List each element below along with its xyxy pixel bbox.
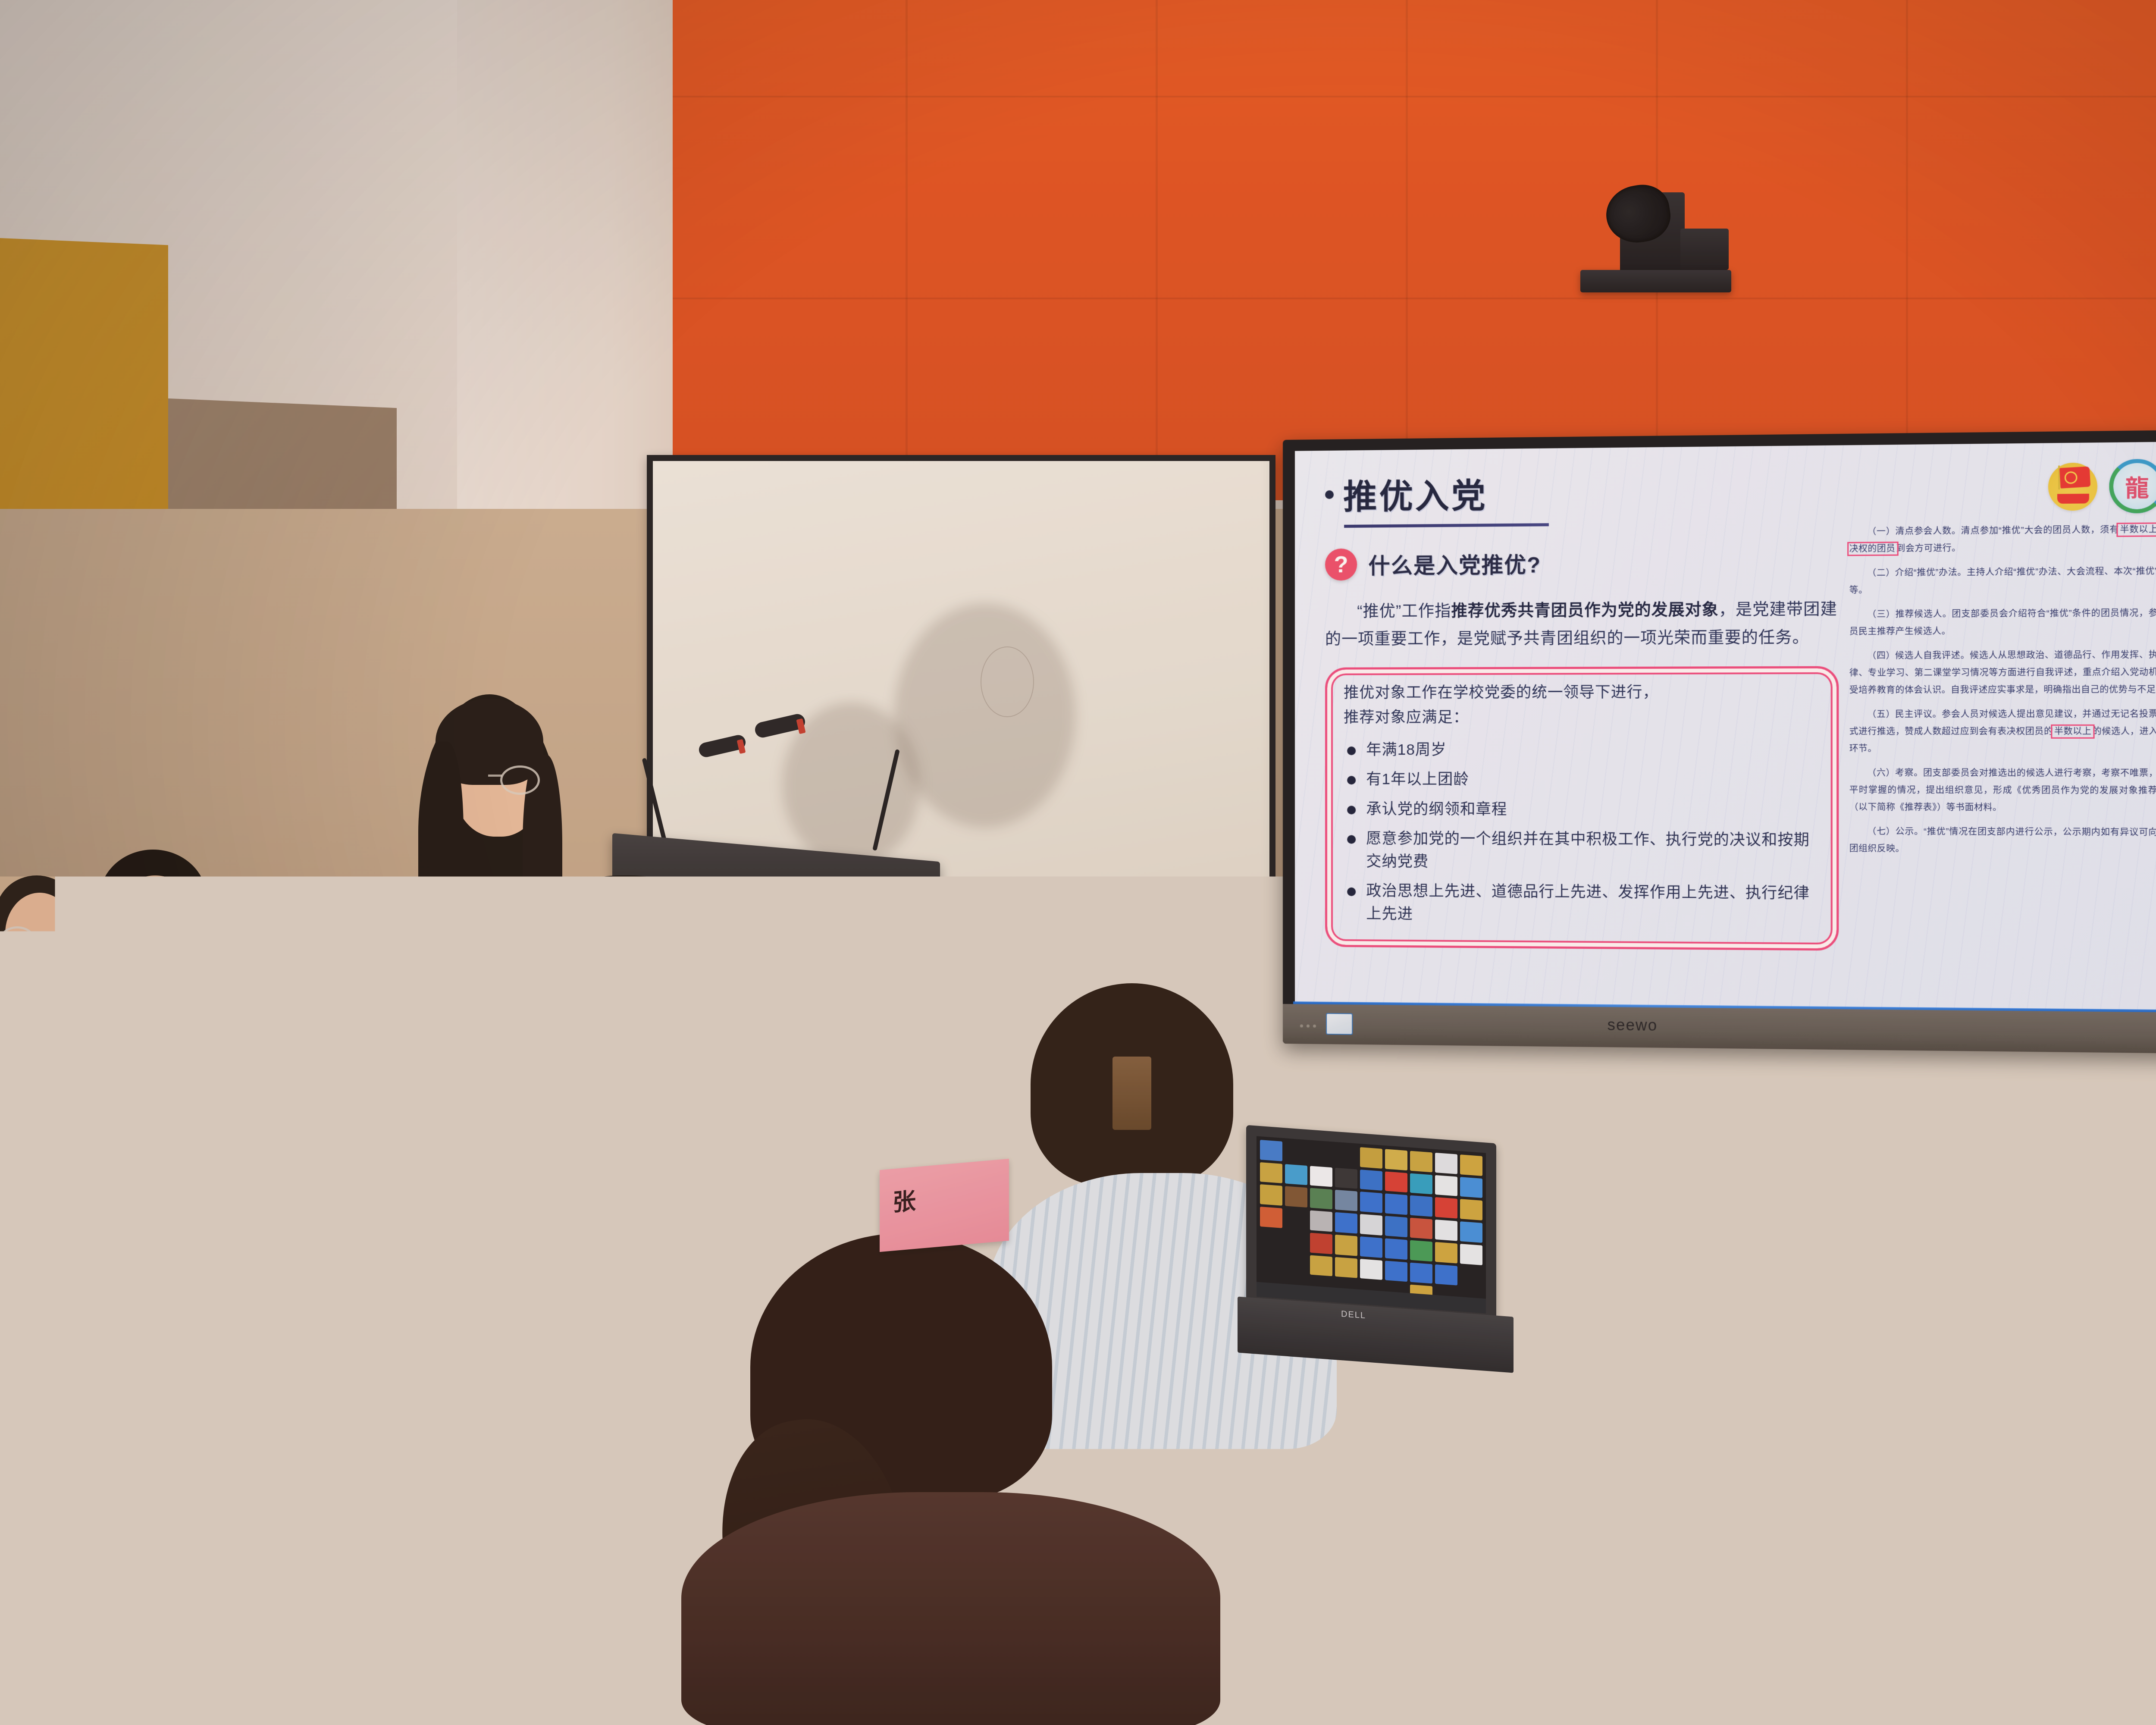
slide-title-row: 推优入党 <box>1325 465 1839 519</box>
list-item: 年满18周岁 <box>1344 738 1822 762</box>
box-lead-line-1: 推优对象工作在学校党委的统一领导下进行， <box>1344 680 1822 706</box>
presenter-glasses-icon <box>500 765 540 795</box>
panel-screen[interactable]: 推优入党 ? 什么是入党推优? “推优”工作指推荐优秀共青团员作为党的发展对象，… <box>1295 442 2156 1011</box>
title-underline <box>1344 523 1549 528</box>
presentation-slide: 推优入党 ? 什么是入党推优? “推优”工作指推荐优秀共青团员作为党的发展对象，… <box>1295 442 2156 1011</box>
procedure-paragraph: （一）清点参会人数。清点参加“推优”大会的团员人数，须有半数以上有表决权的团员到… <box>1849 521 2156 558</box>
presenter-glasses-bridge <box>488 775 502 777</box>
list-item: 有1年以上团龄 <box>1344 768 1822 792</box>
slide-left-column: 推优入党 ? 什么是入党推优? “推优”工作指推荐优秀共青团员作为党的发展对象，… <box>1325 465 1839 994</box>
classroom-photo-scene: 推优入党 ? 什么是入党推优? “推优”工作指推荐优秀共青团员作为党的发展对象，… <box>0 0 2156 1725</box>
open-notebook <box>1419 1303 1699 1396</box>
para-before: （一）清点参会人数。清点参加“推优”大会的团员人数，须有 <box>1867 525 2119 536</box>
slide-paragraph: “推优”工作指推荐优秀共青团员作为党的发展对象，是党建带团建的一项重要工作，是党… <box>1325 595 1839 653</box>
requirements-list: 年满18周岁 有1年以上团龄 承认党的纲领和章程 愿意参加党的一个组织并在其中积… <box>1344 738 1822 928</box>
slide-question: 什么是入党推优? <box>1368 548 1541 580</box>
list-item: 承认党的纲领和章程 <box>1344 798 1822 822</box>
title-bullet-icon <box>1325 490 1334 499</box>
procedure-text-block: （一）清点参会人数。清点参加“推优”大会的团员人数，须有半数以上有表决权的团员到… <box>1849 521 2156 859</box>
procedure-paragraph: （五）民主评议。参会人员对候选人提出意见建议，并通过无记名投票的方式进行推选，赞… <box>1849 706 2156 758</box>
glasses-icon <box>647 1005 723 1051</box>
name-card-text: 张 <box>893 1182 916 1218</box>
school-emblem-glyph: 龍 <box>2113 463 2156 509</box>
hair-clip-icon <box>1112 1057 1151 1130</box>
name-card: 张 <box>880 1159 1009 1252</box>
audience-member <box>1777 1268 2156 1725</box>
highlighted-phrase: 半数以上 <box>2053 727 2093 737</box>
question-mark-icon: ? <box>1325 549 1357 581</box>
ptz-camera <box>1580 168 1736 298</box>
audience-member <box>673 1233 1233 1725</box>
slide-question-row: ? 什么是入党推优? <box>1325 545 1839 580</box>
procedure-paragraph: （四）候选人自我评述。候选人从思想政治、道德品行、作用发挥、执行纪律、专业学习、… <box>1849 646 2156 699</box>
procedure-paragraph: （二）介绍“推优”办法。主持人介绍“推优”办法、大会流程、本次“推优”计划等。 <box>1849 563 2156 599</box>
laptop-screen[interactable] <box>1257 1136 1486 1313</box>
audience-member <box>216 901 362 1195</box>
small-monitor[interactable] <box>259 962 336 1009</box>
interactive-flat-panel[interactable]: 推优入党 ? 什么是入党推优? “推优”工作指推荐优秀共青团员作为党的发展对象，… <box>1283 430 2156 1054</box>
slide-right-column: 龍 （一）清点参会人数。清点参加“推优”大会的团员人数，须有半数以上有表决权的团… <box>1849 462 2156 997</box>
procedure-paragraph: （三）推荐候选人。团支部委员会介绍符合“推优”条件的团员情况，参会人员民主推荐产… <box>1849 605 2156 640</box>
slide-title: 推优入党 <box>1343 469 1488 519</box>
audience-member <box>0 1371 172 1725</box>
list-item: 政治思想上先进、道德品行上先进、发挥作用上先进、执行纪律上先进 <box>1344 880 1822 928</box>
procedure-paragraph: （六）考察。团支部委员会对推选出的候选人进行考察，考察不唯票，结合平时掌握的情况… <box>1849 765 2156 817</box>
orange-accent-panel <box>673 0 2156 500</box>
glasses-icon <box>0 926 34 951</box>
laptop-brand-label: DELL <box>1341 1309 1366 1321</box>
procedure-paragraph: （七）公示。“推优”情况在团支部内进行公示，公示期内如有异议可向上级团组织反映。 <box>1849 823 2156 859</box>
school-emblem-icon: 龍 <box>2109 459 2156 514</box>
panel-brand-label: seewo <box>1608 1016 1658 1035</box>
paragraph-part-1: “推优”工作指 <box>1357 602 1451 620</box>
camera-mount-bar <box>1580 270 1731 292</box>
list-item: 愿意参加党的一个组织并在其中积极工作、执行党的决议和按期交纳党费 <box>1344 828 1822 875</box>
wall-white-strip <box>457 0 677 509</box>
slide-emblems: 龍 <box>2048 459 2156 514</box>
camera-side-module <box>1680 229 1729 270</box>
para-after: 到会方可进行。 <box>1896 543 1961 554</box>
box-lead-line-2: 推荐对象应满足： <box>1344 705 1822 730</box>
requirements-box: 推优对象工作在学校党委的统一领导下进行， 推荐对象应满足： 年满18周岁 有1年… <box>1325 666 1839 951</box>
communist-youth-league-emblem-icon <box>2048 463 2097 511</box>
paragraph-bold-part: 推荐优秀共青团员作为党的发展对象 <box>1451 601 1718 620</box>
